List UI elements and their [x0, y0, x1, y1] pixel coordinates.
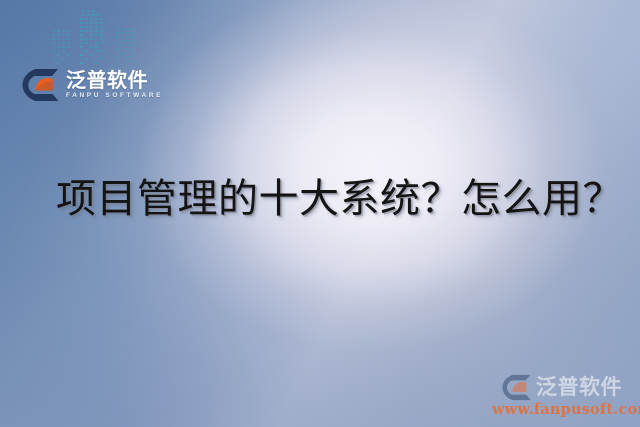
- page-title: 项目管理的十大系统？怎么用？: [56, 176, 623, 223]
- watermark-name-cn: 泛普软件: [536, 377, 622, 398]
- slide-canvas: 泛普软件 FANPU SOFTWARE 项目管理的十大系统？怎么用？ 泛普软件 …: [0, 0, 640, 427]
- brand-lockup: 泛普软件 FANPU SOFTWARE: [22, 68, 163, 102]
- brand-name-en: FANPU SOFTWARE: [66, 93, 163, 100]
- watermark: 泛普软件 www.fanpusoft.com: [492, 374, 632, 418]
- brand-name-cn: 泛普软件: [66, 70, 163, 90]
- watermark-lockup: 泛普软件: [492, 374, 632, 401]
- watermark-url: www.fanpusoft.com: [492, 401, 632, 418]
- pixel-skyline-icon: [44, 2, 156, 68]
- brand-wordmark: 泛普软件 FANPU SOFTWARE: [66, 70, 163, 100]
- fanpu-hexagon-logo-icon: [22, 68, 60, 102]
- fanpu-hexagon-logo-icon: [502, 374, 532, 401]
